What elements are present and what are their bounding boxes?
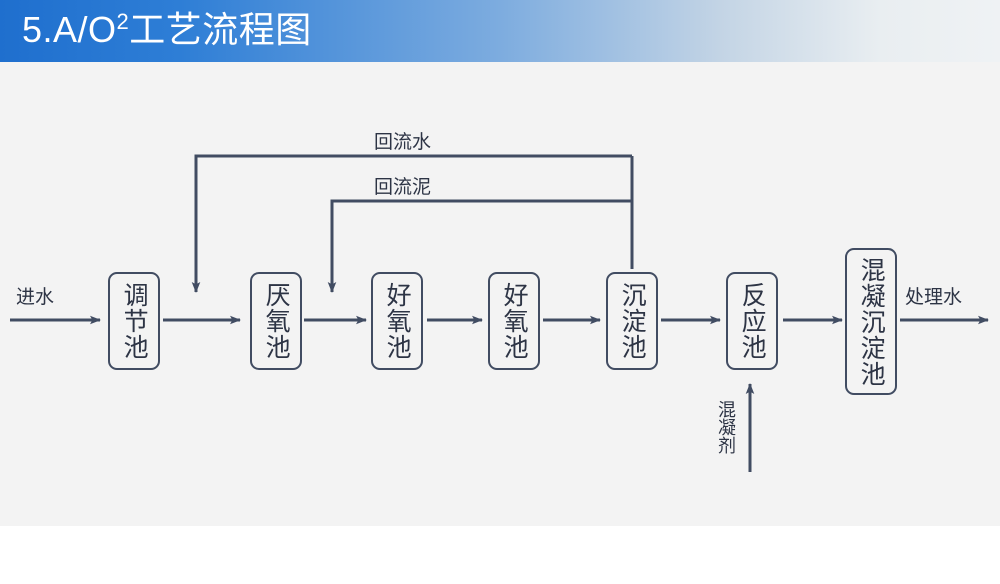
- node-fanyingchi[interactable]: 反应池: [726, 272, 778, 370]
- slide-header-bar: 5.A/O2工艺流程图: [0, 0, 1000, 62]
- node-yanyangchi[interactable]: 厌氧池: [250, 272, 302, 370]
- node-hunning-chendianchi-label: 混凝沉淀池: [858, 257, 884, 387]
- label-outlet: 处理水: [905, 282, 962, 309]
- node-tiaojiechi-label: 调节池: [121, 282, 147, 360]
- node-tiaojiechi[interactable]: 调节池: [108, 272, 160, 370]
- label-inlet: 进水: [16, 282, 54, 309]
- node-haoyangchi-1-label: 好氧池: [384, 282, 410, 360]
- slide-page: 5.A/O2工艺流程图: [0, 0, 1000, 584]
- page-title-superscript: 2: [117, 9, 130, 34]
- node-haoyangchi-2[interactable]: 好氧池: [488, 272, 540, 370]
- process-flow-diagram: 调节池 厌氧池 好氧池 好氧池 沉淀池 反应池 混凝沉淀池 进水 处: [0, 62, 1000, 526]
- label-recycle-water: 回流水: [374, 127, 431, 154]
- slide-content-area: 调节池 厌氧池 好氧池 好氧池 沉淀池 反应池 混凝沉淀池 进水 处: [0, 62, 1000, 526]
- page-title-main: 5.A/O: [22, 9, 117, 50]
- node-chendianchi-label: 沉淀池: [619, 282, 645, 360]
- node-haoyangchi-2-label: 好氧池: [501, 282, 527, 360]
- label-recycle-sludge: 回流泥: [374, 172, 431, 199]
- node-chendianchi[interactable]: 沉淀池: [606, 272, 658, 370]
- page-title-tail: 工艺流程图: [129, 9, 312, 50]
- node-haoyangchi-1[interactable]: 好氧池: [371, 272, 423, 370]
- node-fanyingchi-label: 反应池: [739, 282, 765, 360]
- page-title: 5.A/O2工艺流程图: [22, 5, 312, 55]
- node-hunning-chendianchi[interactable]: 混凝沉淀池: [845, 248, 897, 395]
- node-yanyangchi-label: 厌氧池: [263, 282, 289, 360]
- label-coagulant: 混凝剂: [716, 400, 734, 454]
